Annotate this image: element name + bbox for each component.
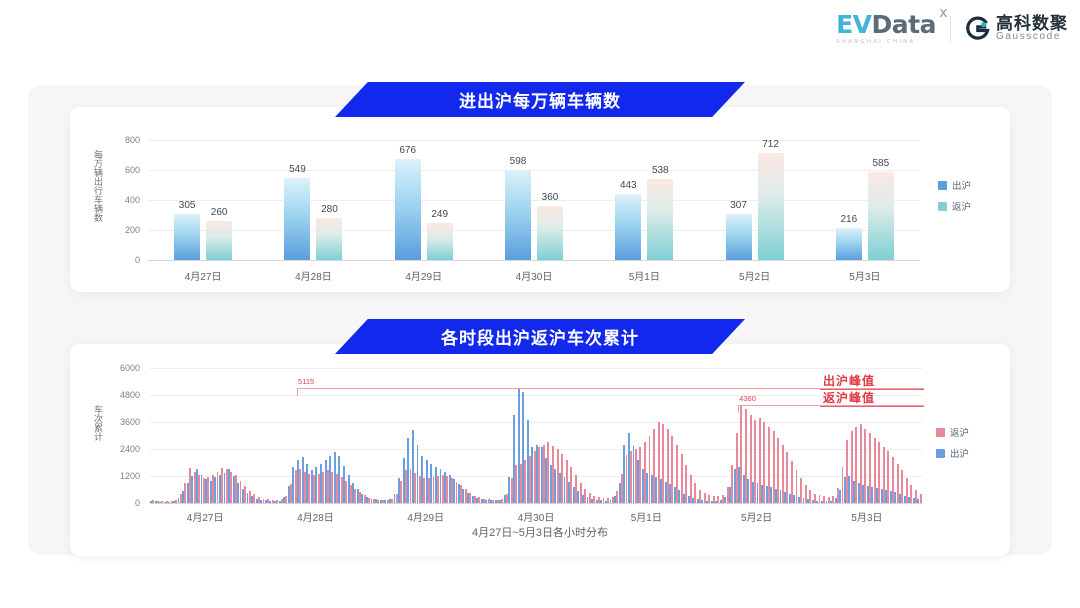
gridline xyxy=(148,260,920,261)
bar-value-label: 712 xyxy=(749,139,793,150)
bar-chu[interactable] xyxy=(174,214,200,260)
evdata-logo: EVDatax SHANGHAI CHINA xyxy=(836,12,936,46)
gausscode-logo: 高科数聚 Gausscode xyxy=(965,15,1068,43)
chart-title-banner-hourly: 各时段出沪返沪车次累计 xyxy=(335,319,745,354)
bar-fan[interactable] xyxy=(537,206,563,260)
gridline xyxy=(150,503,922,504)
bar-fan[interactable] xyxy=(316,218,342,260)
x-axis-tick: 4月29日 xyxy=(407,509,444,524)
x-axis-tick: 4月28日 xyxy=(297,509,334,524)
bar-fan[interactable] xyxy=(647,179,673,260)
bar-fan[interactable] xyxy=(427,223,453,260)
bar-fan[interactable] xyxy=(758,153,784,260)
bar-value-label: 549 xyxy=(275,164,319,175)
y-axis-tick: 6000 xyxy=(100,363,140,373)
logo-divider xyxy=(950,16,951,42)
bar-value-label: 598 xyxy=(496,156,540,167)
bar-value-label: 307 xyxy=(717,200,761,211)
gausscode-text: 高科数聚 Gausscode xyxy=(996,15,1068,43)
legend-label-chu-hourly: 出沪 xyxy=(950,446,969,460)
evdata-wordmark: EVDatax xyxy=(836,12,936,37)
evdata-superscript-x: x xyxy=(939,6,947,20)
y-axis-tick: 2400 xyxy=(100,444,140,454)
bar-value-label: 676 xyxy=(386,145,430,156)
evdata-data-text: Data xyxy=(872,10,936,39)
gridline xyxy=(148,170,920,171)
x-axis-tick: 5月3日 xyxy=(851,509,882,524)
legend-hourly: 返沪 出沪 xyxy=(936,425,969,467)
y-axis-tick: 800 xyxy=(100,135,140,145)
gausscode-chinese: 高科数聚 xyxy=(996,15,1068,33)
legend-item-fan-hourly[interactable]: 返沪 xyxy=(936,425,969,439)
page-header: EVDatax SHANGHAI CHINA 高科数聚 Gausscode xyxy=(0,0,1080,62)
annotation-value-fan-peak: 4360 xyxy=(739,394,756,403)
bar-value-label: 280 xyxy=(307,204,351,215)
legend-label-chu: 出沪 xyxy=(952,178,971,192)
x-axis-tick: 5月2日 xyxy=(741,509,772,524)
y-axis-tick: 200 xyxy=(100,225,140,235)
x-axis-tick: 5月1日 xyxy=(629,268,660,283)
y-axis-tick: 4800 xyxy=(100,390,140,400)
y-axis-tick: 3600 xyxy=(100,417,140,427)
bar-value-label: 249 xyxy=(418,209,462,220)
x-axis-tick: 4月27日 xyxy=(187,509,224,524)
gridline xyxy=(148,230,920,231)
annotation-tick-chu-peak xyxy=(297,388,298,396)
bar-value-label: 443 xyxy=(606,180,650,191)
x-axis-tick: 4月29日 xyxy=(405,268,442,283)
bar-chu[interactable] xyxy=(615,194,641,260)
gridline xyxy=(150,395,922,396)
legend-swatch-fan xyxy=(938,202,947,211)
bar-fan[interactable] xyxy=(206,221,232,260)
bar-chu[interactable] xyxy=(836,228,862,260)
x-axis-tick: 4月27日 xyxy=(185,268,222,283)
bar-chu[interactable] xyxy=(726,214,752,260)
chart-title-banner-daily: 进出沪每万辆车辆数 xyxy=(335,82,745,117)
bar-value-label: 260 xyxy=(197,207,241,218)
annotation-value-chu-peak: 5115 xyxy=(298,377,314,386)
x-axis-tick: 4月30日 xyxy=(518,509,555,524)
chart-caption-hourly: 4月27日~5月3日各小时分布 xyxy=(0,524,1080,540)
bar-chu[interactable] xyxy=(284,178,310,260)
y-axis-tick: 1200 xyxy=(100,471,140,481)
y-axis-title-daily: 每万辆出行车辆数 xyxy=(92,150,105,222)
bar-value-label: 216 xyxy=(827,214,871,225)
x-axis-tick: 5月1日 xyxy=(631,509,662,524)
x-axis-tick: 5月3日 xyxy=(849,268,880,283)
bar-value-label: 360 xyxy=(528,192,572,203)
logo-group: EVDatax SHANGHAI CHINA 高科数聚 Gausscode xyxy=(836,12,1068,46)
legend-swatch-chu-hourly xyxy=(936,449,945,458)
annotation-underline-fan-peak xyxy=(820,406,924,408)
legend-item-chu[interactable]: 出沪 xyxy=(938,178,971,192)
evdata-subtitle: SHANGHAI CHINA xyxy=(836,40,915,46)
y-axis-tick: 0 xyxy=(100,498,140,508)
x-axis-tick: 4月30日 xyxy=(516,268,553,283)
gridline xyxy=(150,368,922,369)
y-axis-tick: 400 xyxy=(100,195,140,205)
bar-fan[interactable] xyxy=(868,172,894,260)
chart-title-hourly: 各时段出沪返沪车次累计 xyxy=(441,324,639,349)
legend-item-fan[interactable]: 返沪 xyxy=(938,199,971,213)
legend-swatch-fan-hourly xyxy=(936,428,945,437)
annotation-label-chu-peak: 出沪峰值 xyxy=(823,372,875,389)
legend-daily: 出沪 返沪 xyxy=(938,178,971,220)
bar-value-label: 538 xyxy=(638,165,682,176)
legend-label-fan: 返沪 xyxy=(952,199,971,213)
bar-chu[interactable] xyxy=(505,170,531,260)
y-axis-tick: 0 xyxy=(100,255,140,265)
legend-label-fan-hourly: 返沪 xyxy=(950,425,969,439)
gridline xyxy=(148,140,920,141)
gausscode-english: Gausscode xyxy=(996,32,1068,43)
legend-swatch-chu xyxy=(938,181,947,190)
x-axis-tick: 5月2日 xyxy=(739,268,770,283)
chart-title-daily: 进出沪每万辆车辆数 xyxy=(459,87,621,112)
gausscode-mark-icon xyxy=(965,16,990,41)
hourly-bar-fan xyxy=(920,494,922,503)
annotation-label-fan-peak: 返沪峰值 xyxy=(823,389,875,406)
annotation-tick-fan-peak xyxy=(738,405,739,413)
evdata-ev-text: EV xyxy=(836,10,871,39)
bar-value-label: 585 xyxy=(859,158,903,169)
y-axis-tick: 600 xyxy=(100,165,140,175)
gridline xyxy=(150,422,922,423)
x-axis-tick: 4月28日 xyxy=(295,268,332,283)
legend-item-chu-hourly[interactable]: 出沪 xyxy=(936,446,969,460)
